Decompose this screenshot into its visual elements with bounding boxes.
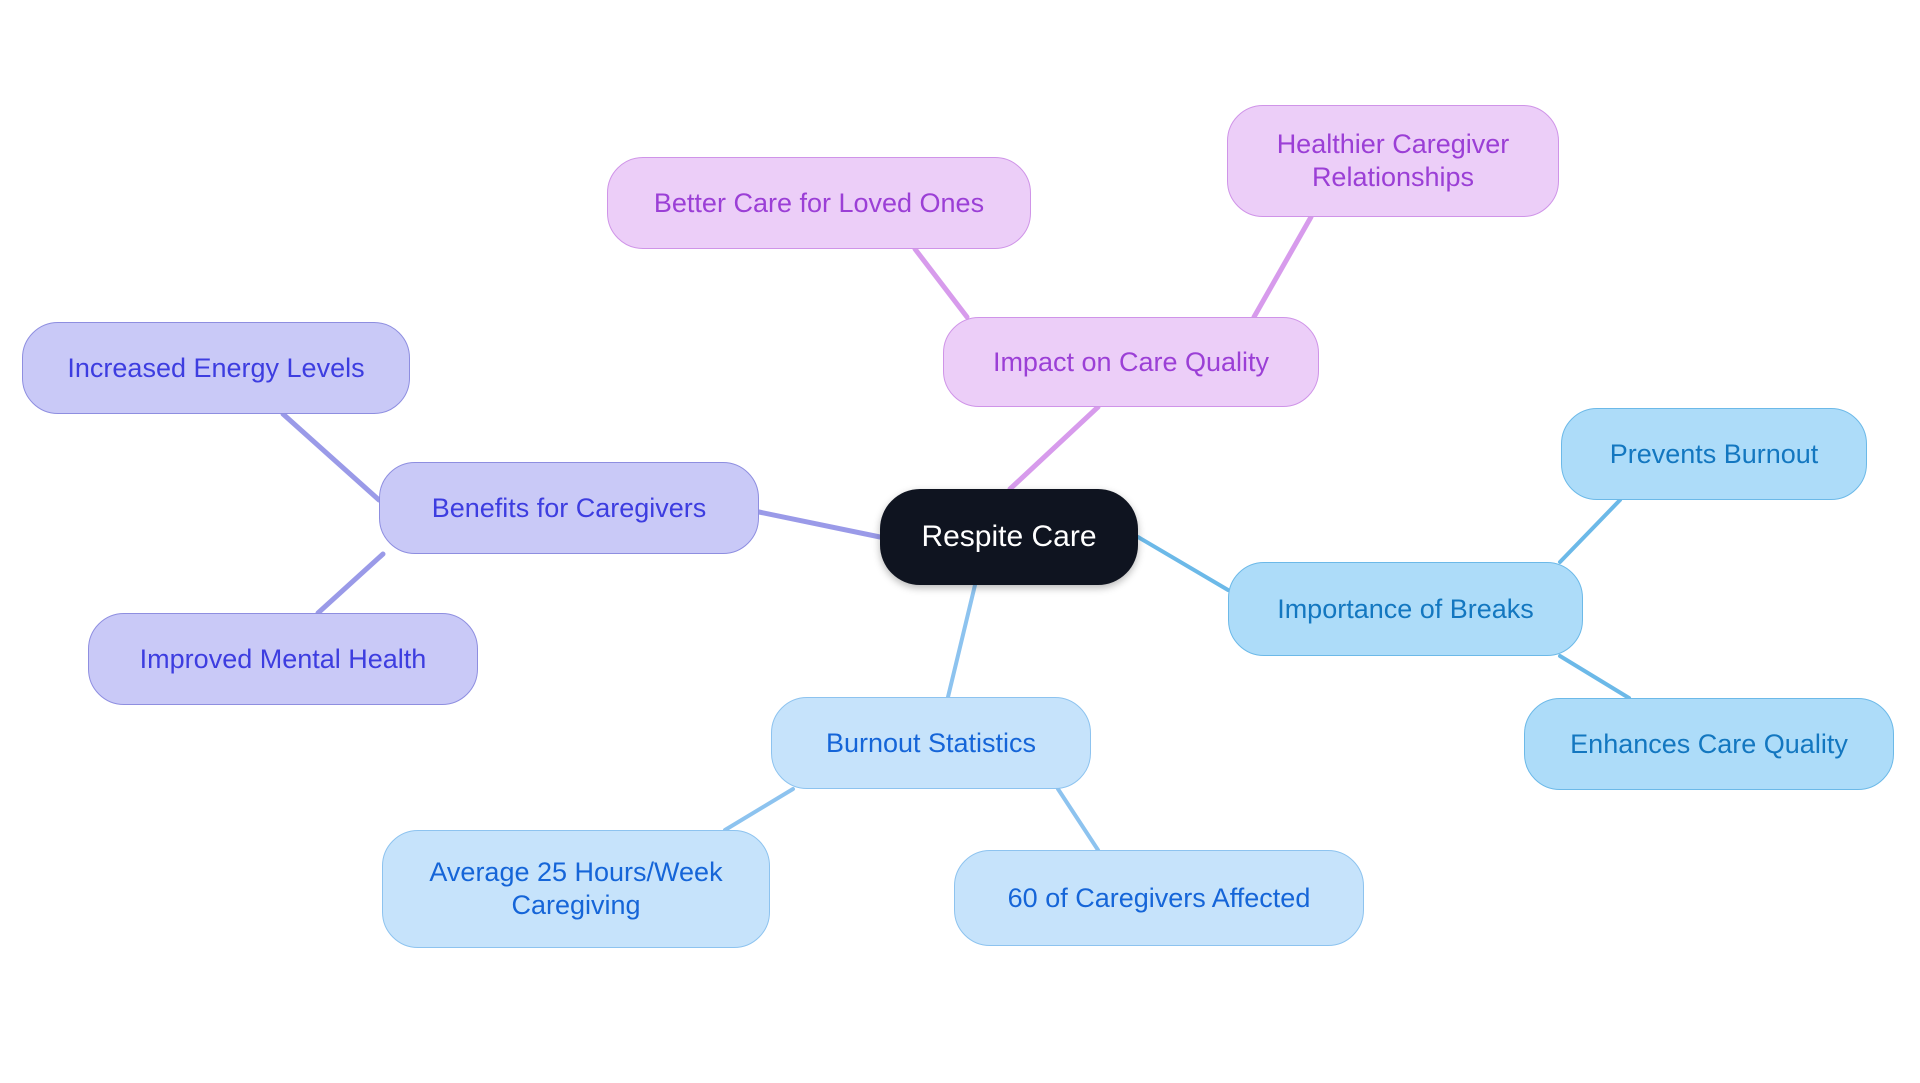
- node-burnout-stats[interactable]: Burnout Statistics: [771, 697, 1091, 789]
- node-affected[interactable]: 60 of Caregivers Affected: [954, 850, 1364, 946]
- mindmap-canvas: Respite CareBenefits for CaregiversIncre…: [0, 0, 1920, 1083]
- edge-impact-relationship: [1254, 217, 1311, 317]
- node-better-care[interactable]: Better Care for Loved Ones: [607, 157, 1031, 249]
- node-breaks[interactable]: Importance of Breaks: [1228, 562, 1583, 656]
- edge-root-impact: [1010, 407, 1098, 489]
- edge-burnout-affected: [1058, 789, 1098, 850]
- node-enhances[interactable]: Enhances Care Quality: [1524, 698, 1894, 790]
- edge-root-breaks: [1138, 537, 1228, 590]
- edge-benefits-mental: [318, 554, 383, 613]
- node-benefits[interactable]: Benefits for Caregivers: [379, 462, 759, 554]
- edge-root-burnout: [948, 585, 975, 697]
- node-mental[interactable]: Improved Mental Health: [88, 613, 478, 705]
- node-hours[interactable]: Average 25 Hours/Week Caregiving: [382, 830, 770, 948]
- edge-breaks-prevents: [1560, 500, 1620, 562]
- edge-burnout-hours: [725, 789, 793, 830]
- node-root[interactable]: Respite Care: [880, 489, 1138, 585]
- node-energy[interactable]: Increased Energy Levels: [22, 322, 410, 414]
- node-impact[interactable]: Impact on Care Quality: [943, 317, 1319, 407]
- node-prevents[interactable]: Prevents Burnout: [1561, 408, 1867, 500]
- edge-impact-better: [915, 249, 967, 317]
- edge-breaks-enhances: [1560, 656, 1629, 698]
- node-relationships[interactable]: Healthier Caregiver Relationships: [1227, 105, 1559, 217]
- edge-benefits-energy: [283, 414, 379, 500]
- edge-root-benefits: [759, 512, 880, 537]
